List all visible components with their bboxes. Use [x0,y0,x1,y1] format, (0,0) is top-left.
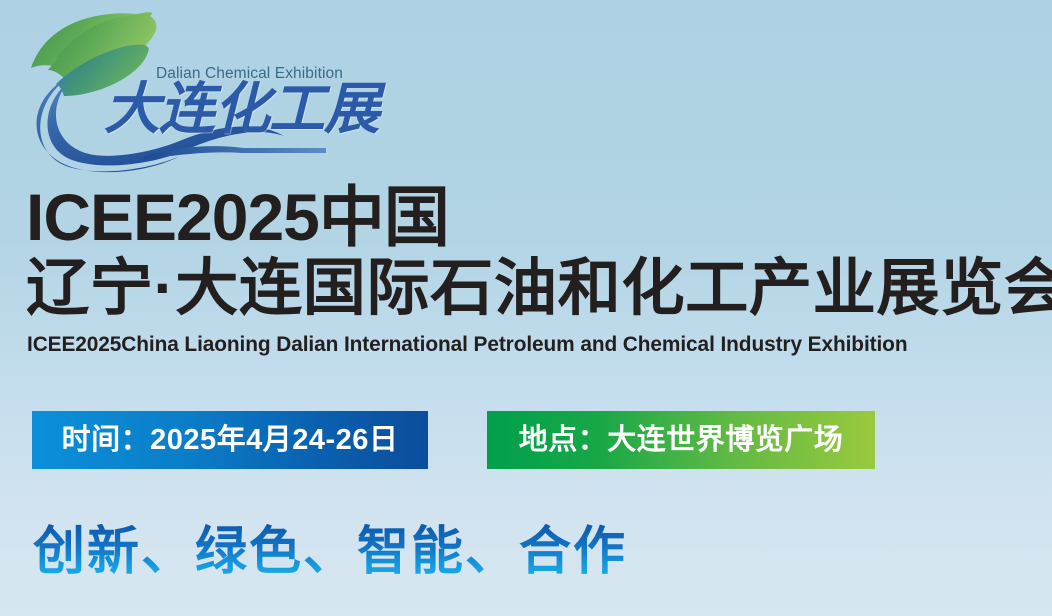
badge-date-label: 时间：2025年4月24-26日 [62,426,399,455]
page-title-english: ICEE2025China Liaoning Dalian Internatio… [27,334,907,356]
badge-venue-label: 地点：大连世界博览广场 [519,426,844,455]
exhibition-banner: Dalian Chemical Exhibition 大连化工展 ICEE202… [0,0,1052,616]
page-title-line1: ICEE2025中国 [26,184,449,250]
badge-date: 时间：2025年4月24-26日 [32,411,428,469]
slogan-text: 创新、绿色、智能、合作 [33,524,627,581]
badge-venue: 地点：大连世界博览广场 [487,411,875,469]
logo-chinese-label: 大连化工展 [104,82,379,138]
exhibition-logo: Dalian Chemical Exhibition 大连化工展 [26,10,356,175]
page-title-line2: 辽宁·大连国际石油和化工产业展览会 [26,258,1052,320]
